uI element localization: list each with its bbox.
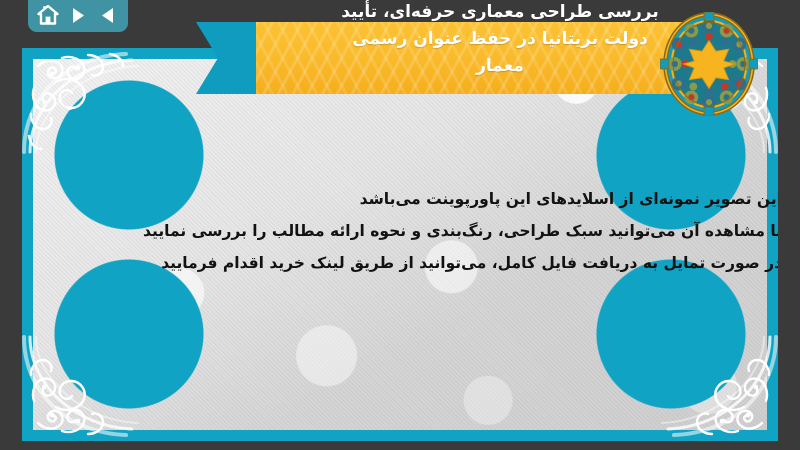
triangle-right-icon (70, 7, 86, 24)
title-ribbon: بررسی طراحی معماری حرفه‌ای، تأیید دولت ب… (196, 0, 800, 122)
slide-viewer: این تصویر نمونه‌ای از اسلایدهای این پاور… (0, 0, 800, 450)
body-line-1: این تصویر نمونه‌ای از اسلایدهای این پاور… (62, 183, 778, 215)
home-button[interactable] (37, 3, 59, 27)
body-line-3: در صورت تمایل به دریافت فایل کامل، می‌تو… (62, 247, 778, 279)
body-line-2: با مشاهده آن می‌توانید سبک طراحی، رنگ‌بن… (62, 215, 778, 247)
home-icon (37, 5, 59, 25)
persian-medallion-icon (660, 12, 758, 116)
triangle-left-icon (100, 7, 116, 24)
navigation-bar (28, 0, 128, 32)
forward-button[interactable] (67, 3, 89, 27)
slide-body-text: این تصویر نمونه‌ای از اسلایدهای این پاور… (62, 183, 778, 279)
back-button[interactable] (97, 3, 119, 27)
